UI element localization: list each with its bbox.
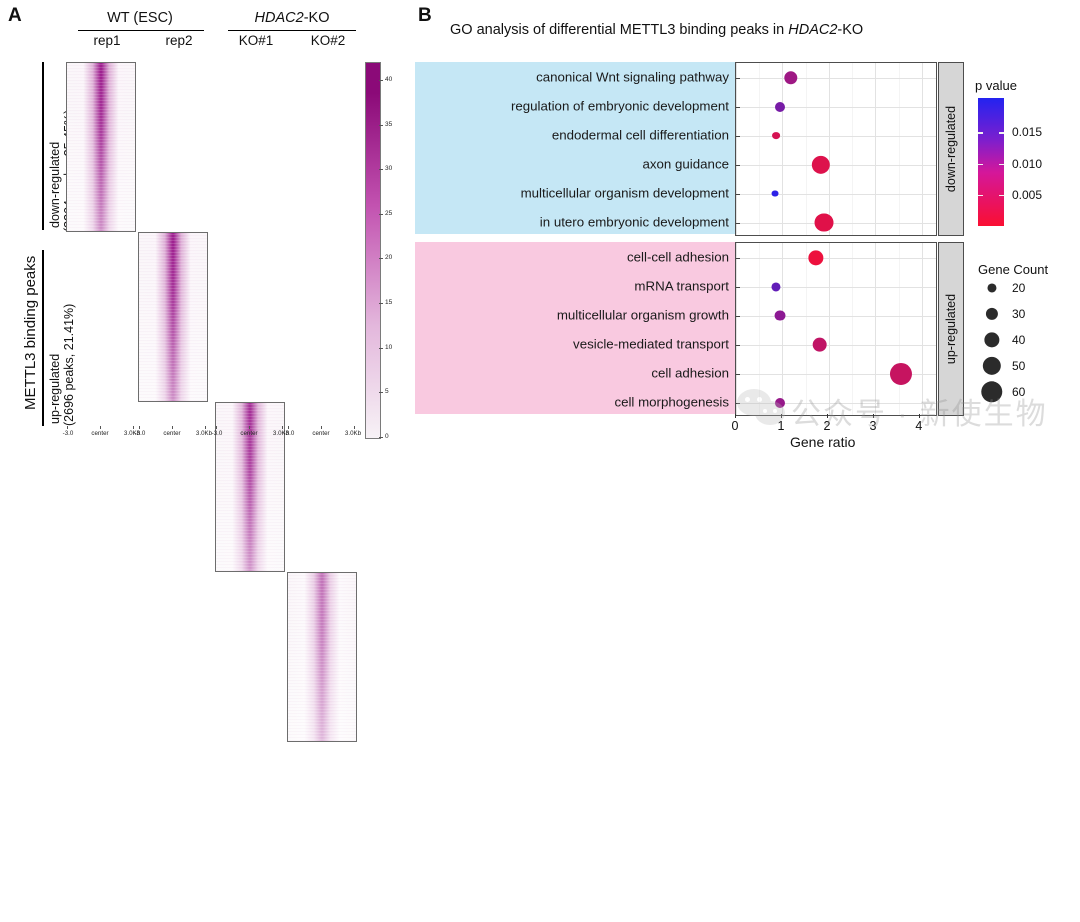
pvalue-colorbar: [978, 98, 1004, 226]
x-axis-tick-label: 1: [777, 419, 784, 433]
pvalue-tick-mark: [999, 132, 1004, 133]
gridline-horizontal: [736, 107, 936, 108]
pvalue-tick-mark: [978, 132, 983, 133]
gridline-horizontal: [736, 316, 936, 317]
go-term-label: multicellular organism development: [521, 185, 729, 200]
go-term-dot: [775, 101, 785, 111]
group-rule-ko: [228, 30, 356, 31]
panel-b-letter: B: [418, 6, 432, 25]
rep-label-3: KO#2: [293, 33, 363, 48]
pvalue-tick-mark: [978, 195, 983, 196]
y-axis-tick-mark: [736, 345, 740, 346]
y-axis-tick-mark: [736, 287, 740, 288]
panel-b-title-gene: HDAC2: [788, 22, 837, 38]
colorbar-tick-mark: [379, 169, 383, 170]
heatmap-xtick-mark: [133, 426, 134, 429]
row-group-rule-down: [42, 62, 44, 230]
go-term-dot: [812, 337, 827, 352]
rep-label-0: rep1: [72, 33, 142, 48]
go-term-dot: [811, 155, 829, 173]
go-term-label: multicellular organism growth: [557, 307, 729, 322]
heatmap-xtick-mark: [100, 426, 101, 429]
y-axis-tick-mark: [736, 136, 740, 137]
heatmap-xtick-mark: [216, 426, 217, 429]
term-label-box-down: canonical Wnt signaling pathwayregulatio…: [415, 62, 735, 234]
gene-count-legend-label: 20: [1012, 281, 1025, 295]
gridline-vertical-minor: [759, 243, 760, 415]
colorbar-tick-label: 30: [385, 165, 392, 172]
heatmap-xtick-mark: [67, 426, 68, 429]
pvalue-legend-title: p value: [975, 78, 1017, 93]
panel-a-letter: A: [8, 6, 22, 25]
go-term-dot: [890, 362, 912, 384]
x-axis-tick-label: 0: [732, 419, 739, 433]
y-axis-tick-mark: [736, 258, 740, 259]
row-group-label-down: down-regulated: [48, 142, 62, 228]
heatmap-xtick-mark: [288, 426, 289, 429]
rep-label-2: KO#1: [221, 33, 291, 48]
y-axis-tick-mark: [736, 223, 740, 224]
group-header-wt: WT (ESC): [70, 10, 210, 26]
go-term-label: mRNA transport: [634, 278, 729, 293]
x-axis-tick-mark: [735, 414, 736, 418]
colorbar-tick-mark: [379, 392, 383, 393]
group-header-ko-gene: HDAC2: [255, 10, 304, 26]
gridline-horizontal: [736, 403, 936, 404]
panel-b-title-prefix: GO analysis of differential METTL3 bindi…: [450, 22, 788, 38]
gene-count-legend-dot: [983, 357, 1001, 375]
go-term-dot: [775, 397, 785, 407]
gridline-vertical-minor: [852, 243, 853, 415]
colorbar-tick-mark: [379, 125, 383, 126]
gridline-horizontal: [736, 78, 936, 79]
x-axis-tick-label: 2: [823, 419, 830, 433]
colorbar-tick-mark: [379, 303, 383, 304]
go-term-label: cell adhesion: [651, 365, 729, 380]
colorbar-tick-mark: [379, 80, 383, 81]
strip-label-up-text: up-regulated: [944, 294, 958, 364]
gene-count-legend-label: 50: [1012, 359, 1025, 373]
pvalue-tick-mark: [999, 195, 1004, 196]
gridline-vertical: [829, 243, 830, 415]
gridline-vertical-minor: [899, 243, 900, 415]
go-term-label: regulation of embryonic development: [511, 98, 729, 113]
gridline-horizontal: [736, 136, 936, 137]
heatmap-xtick-label: -3.0: [200, 430, 234, 437]
panel-a: A WT (ESC) HDAC2-KO rep1 rep2 KO#1 KO#2 …: [0, 0, 410, 461]
go-term-dot: [772, 132, 780, 140]
gridline-vertical: [829, 63, 830, 235]
gene-count-legend-dot: [987, 283, 996, 292]
heatmap-xtick-label: center: [304, 430, 338, 437]
gene-count-legend-dot: [986, 308, 998, 320]
go-term-label: cell-cell adhesion: [627, 249, 729, 264]
gridline-vertical: [782, 243, 783, 415]
go-term-label: axon guidance: [642, 156, 729, 171]
gene-count-legend-label: 40: [1012, 333, 1025, 347]
gridline-horizontal: [736, 345, 936, 346]
pvalue-tick-label: 0.015: [1012, 125, 1042, 139]
heatmap-xtick-label: center: [155, 430, 189, 437]
gridline-vertical: [736, 63, 737, 235]
dotplot-up-regulated: [735, 242, 937, 416]
group-header-ko: HDAC2-KO: [219, 10, 365, 26]
colorbar-tick-label: 15: [385, 299, 392, 306]
gridline-vertical: [922, 63, 923, 235]
x-axis-tick-mark: [919, 414, 920, 418]
colorbar-tick-label: 40: [385, 76, 392, 83]
y-axis-tick-mark: [736, 374, 740, 375]
x-axis-label: Gene ratio: [790, 434, 855, 450]
colorbar-tick-label: 35: [385, 121, 392, 128]
go-term-dot: [815, 213, 834, 232]
go-term-dot: [771, 282, 780, 291]
heatmap-xtick-mark: [249, 426, 250, 429]
pvalue-tick-mark: [999, 164, 1004, 165]
colorbar-tick-mark: [379, 348, 383, 349]
colorbar-tick-mark: [379, 258, 383, 259]
go-term-label: in utero embryonic development: [540, 214, 729, 229]
go-term-dot: [784, 71, 797, 84]
gridline-horizontal: [736, 223, 936, 224]
heatmap-rep1-down: [66, 62, 136, 232]
go-term-label: vesicle-mediated transport: [573, 336, 729, 351]
strip-label-up-regulated: up-regulated: [938, 242, 964, 416]
y-axis-tick-mark: [736, 78, 740, 79]
heatmap-xtick-mark: [354, 426, 355, 429]
panel-b: B GO analysis of differential METTL3 bin…: [410, 0, 1080, 461]
strip-label-down-regulated: down-regulated: [938, 62, 964, 236]
heatmap-xtick-mark: [321, 426, 322, 429]
gridline-horizontal: [736, 287, 936, 288]
gridline-vertical-minor: [806, 243, 807, 415]
gridline-vertical: [875, 243, 876, 415]
group-rule-wt: [78, 30, 204, 31]
term-label-box-up: cell-cell adhesionmRNA transportmulticel…: [415, 242, 735, 414]
heatmap-xtick-label: -3.0: [272, 430, 306, 437]
heatmap-xtick-label: center: [83, 430, 117, 437]
dotplot-down-regulated: [735, 62, 937, 236]
heatmap-xtick-mark: [172, 426, 173, 429]
heatmap-xtick-mark: [205, 426, 206, 429]
heatmap-xtick-label: -3.0: [51, 430, 85, 437]
heatmap-ko1-down: [215, 402, 285, 572]
x-axis-tick-label: 3: [869, 419, 876, 433]
gridline-horizontal: [736, 258, 936, 259]
heatmap-xtick-label: center: [232, 430, 266, 437]
gridline-vertical: [782, 63, 783, 235]
gridline-vertical-minor: [806, 63, 807, 235]
pvalue-tick-label: 0.010: [1012, 157, 1042, 171]
y-axis-tick-mark: [736, 194, 740, 195]
go-term-dot: [775, 310, 786, 321]
y-axis-tick-mark: [736, 403, 740, 404]
y-axis-tick-mark: [736, 165, 740, 166]
colorbar-tick-label: 20: [385, 254, 392, 261]
gridline-vertical-minor: [759, 63, 760, 235]
go-term-dot: [772, 190, 779, 197]
x-axis-tick-mark: [873, 414, 874, 418]
gene-count-legend-dot: [984, 332, 999, 347]
go-term-label: canonical Wnt signaling pathway: [536, 69, 729, 84]
gene-count-legend-label: 30: [1012, 307, 1025, 321]
gene-count-legend-dot: [981, 381, 1002, 402]
row-group-rule-up: [42, 250, 44, 426]
gridline-vertical: [736, 243, 737, 415]
colorbar-tick-label: 10: [385, 344, 392, 351]
x-axis-tick-mark: [781, 414, 782, 418]
colorbar-tick-label: 0: [385, 433, 389, 440]
colorbar-tick-label: 25: [385, 210, 392, 217]
strip-label-down-text: down-regulated: [944, 106, 958, 192]
pvalue-tick-label: 0.005: [1012, 188, 1042, 202]
panel-b-title-suffix: -KO: [837, 22, 863, 38]
row-group-sublabel-up: (2696 peaks, 21.41%): [62, 304, 76, 426]
heatmap-xtick-mark: [139, 426, 140, 429]
pvalue-tick-mark: [978, 164, 983, 165]
gridline-horizontal: [736, 194, 936, 195]
gridline-vertical: [922, 243, 923, 415]
y-axis-tick-mark: [736, 107, 740, 108]
colorbar-tick-mark: [379, 214, 383, 215]
y-axis-tick-mark: [736, 316, 740, 317]
colorbar-tick-mark: [379, 437, 383, 438]
panel-b-title: GO analysis of differential METTL3 bindi…: [450, 22, 863, 38]
x-axis-tick-mark: [827, 414, 828, 418]
gridline-vertical: [875, 63, 876, 235]
group-header-ko-suffix: -KO: [304, 10, 330, 26]
go-term-label: endodermal cell differentiation: [552, 127, 729, 142]
gene-count-legend-title: Gene Count: [978, 262, 1048, 277]
gene-count-legend-label: 60: [1012, 385, 1025, 399]
row-group-label-up: up-regulated: [48, 354, 62, 424]
go-term-label: cell morphogenesis: [614, 394, 729, 409]
go-term-dot: [808, 250, 823, 265]
rep-label-1: rep2: [144, 33, 214, 48]
colorbar-tick-label: 5: [385, 388, 389, 395]
gridline-horizontal: [736, 165, 936, 166]
heatmap-xtick-mark: [282, 426, 283, 429]
gridline-vertical-minor: [852, 63, 853, 235]
gridline-vertical-minor: [899, 63, 900, 235]
heatmap-rep2-down: [138, 232, 208, 402]
heatmap-xtick-label: -3.0: [123, 430, 157, 437]
panel-a-y-axis-label: METTL3 binding peaks: [22, 256, 39, 410]
x-axis-tick-label: 4: [915, 419, 922, 433]
heatmap-colorbar: [365, 62, 381, 439]
heatmap-ko2-down: [287, 572, 357, 742]
